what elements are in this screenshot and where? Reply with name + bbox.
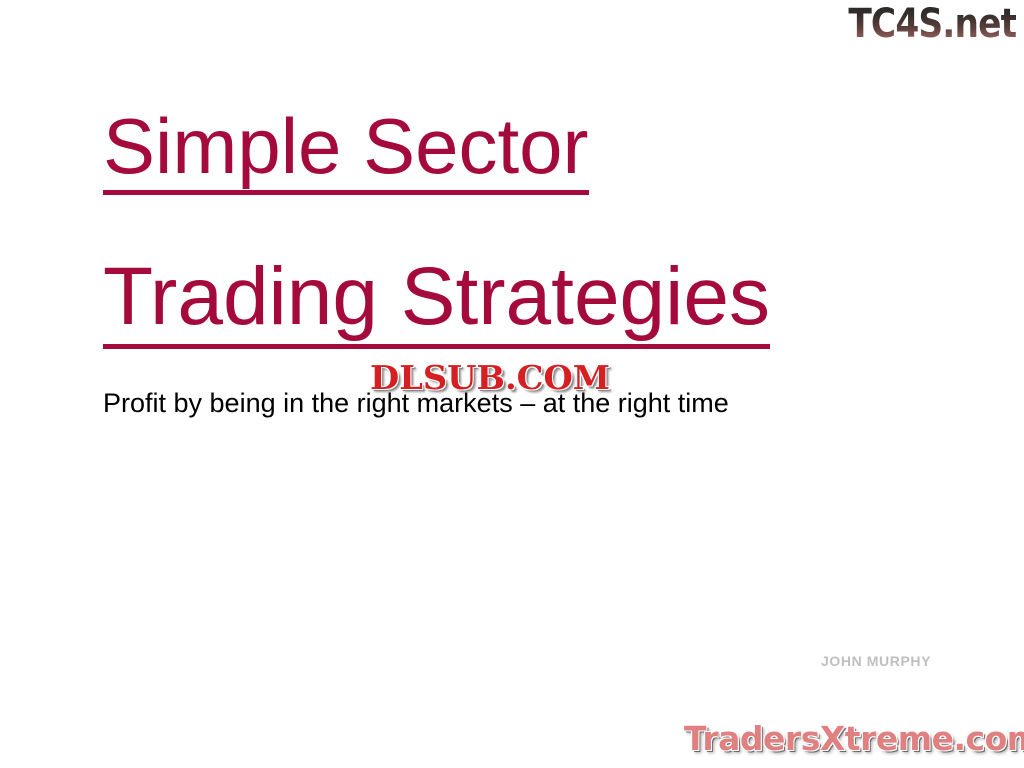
dlsub-watermark: DLSUB.COM bbox=[370, 360, 610, 396]
tradersxtreme-site-logo: TradersXtreme.com bbox=[684, 719, 1024, 759]
slide-title-block: Simple Sector Trading Strategies bbox=[103, 98, 963, 349]
tc4s-site-logo: TC4S.net bbox=[848, 2, 1016, 46]
presentation-slide: TC4S.net Simple Sector Trading Strategie… bbox=[0, 0, 1024, 768]
page-title-line-2: Trading Strategies bbox=[103, 249, 963, 348]
page-title-line-1: Simple Sector bbox=[103, 98, 963, 195]
author-credit: JOHN MURPHY bbox=[821, 652, 931, 670]
title-line-2-text: Trading Strategies bbox=[103, 257, 770, 348]
title-line-1-text: Simple Sector bbox=[103, 108, 589, 195]
